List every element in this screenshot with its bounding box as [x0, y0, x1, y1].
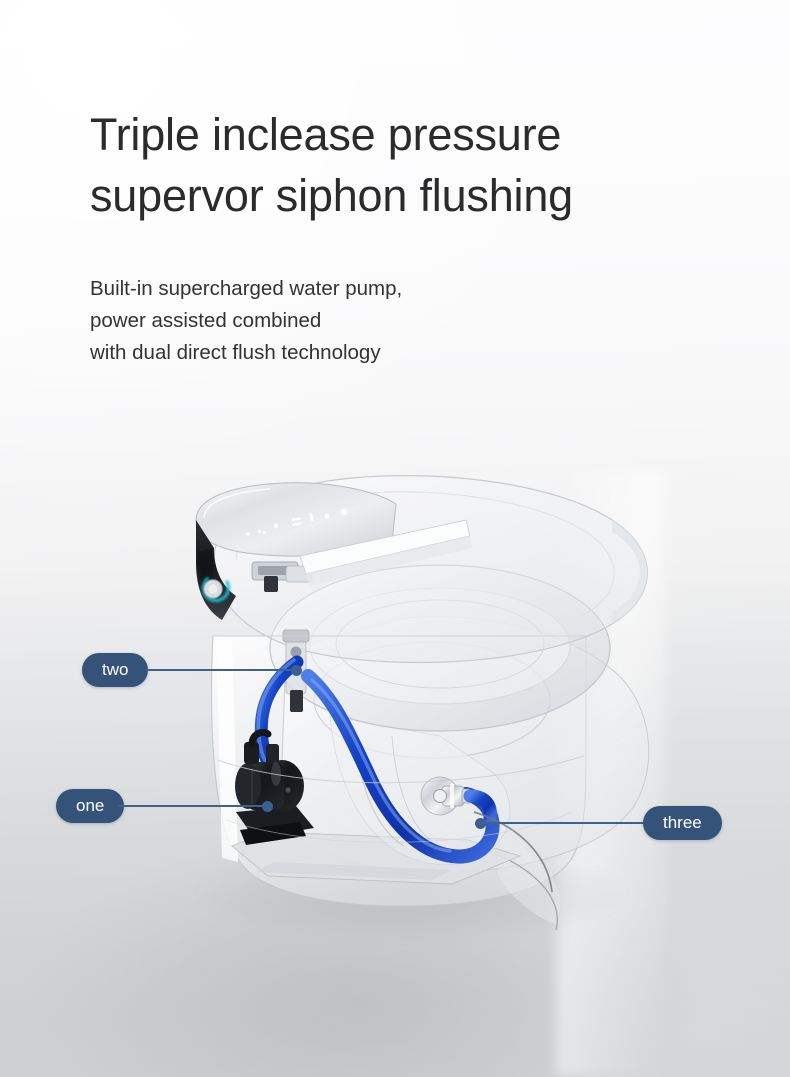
callout-one-anchor-dot: [262, 801, 273, 812]
callout-three-badge[interactable]: three: [643, 806, 722, 840]
callout-three-leader-line: [481, 822, 649, 824]
callout-two-anchor-dot: [291, 665, 302, 676]
product-image-smart-toilet: [0, 0, 790, 1077]
callout-one-badge[interactable]: one: [56, 789, 124, 823]
callout-one-leader-line: [118, 805, 268, 807]
product-feature-page: Triple inclease pressure supervor siphon…: [0, 0, 790, 1077]
callout-two-leader-line: [146, 669, 297, 671]
callout-two-badge[interactable]: two: [82, 653, 148, 687]
